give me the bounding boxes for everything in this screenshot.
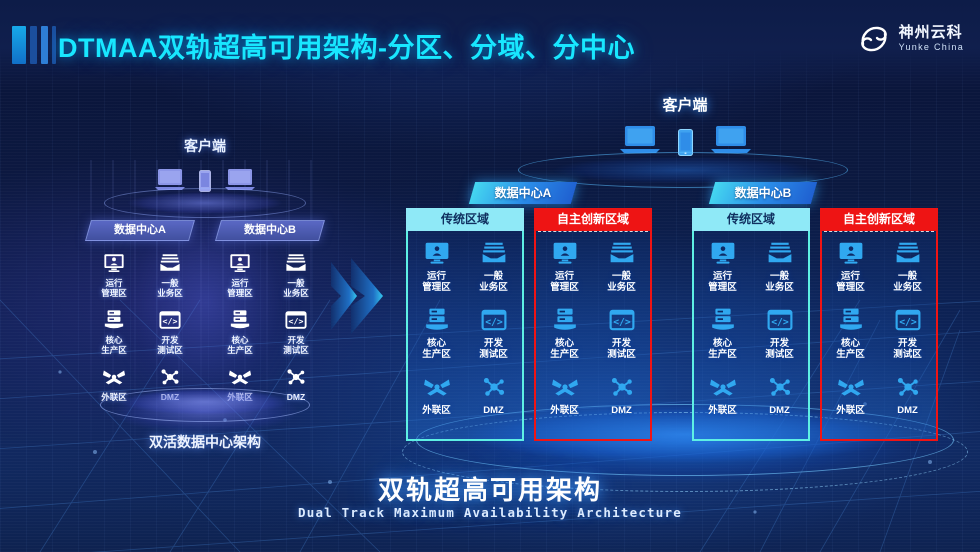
zone-cell: 核心 生产区 (408, 305, 465, 372)
zone-column-body: 运行 管理区 一般 业务区 核心 生产区 </> 开发 测试区 外联区 (406, 231, 524, 441)
zone-cell: </> 开发 测试区 (751, 305, 808, 372)
zone-column-innovation-a: 自主创新区域 运行 管理区 一般 业务区 核心 生产区 </> 开发 测试区 (534, 208, 652, 434)
dtmaa-architecture-group: 客户端 数据中心A 数据中心B (400, 86, 970, 506)
svg-text:</>: </> (289, 316, 304, 326)
code-window-icon: </> (481, 305, 507, 335)
zone-label: 核心 生产区 (708, 338, 737, 360)
zone-label: DMZ (769, 405, 790, 416)
zone-cell: 外联区 (694, 372, 751, 439)
code-window-icon: </> (159, 307, 181, 333)
molecule-nodes-icon (767, 372, 793, 402)
zone-column-traditional-a: 传统区域 运行 管理区 一般 业务区 核心 生产区 </> 开发 测试区 (406, 208, 524, 434)
inbox-tray-icon (481, 238, 507, 268)
zone-cell: </> 开发 测试区 (593, 305, 650, 372)
inbox-tray-icon (285, 250, 307, 276)
molecule-nodes-icon (481, 372, 507, 402)
zone-cell: 一般 业务区 (465, 238, 522, 305)
left-top-platform (104, 188, 306, 218)
monitor-person-icon (103, 250, 125, 276)
zone-label: 运行 管理区 (836, 271, 865, 293)
zone-cell: </> 开发 测试区 (268, 307, 324, 364)
zone-column-innovation-b: 自主创新区域 运行 管理区 一般 业务区 核心 生产区 </> 开发 测试区 (820, 208, 938, 434)
zone-label: 一般 业务区 (765, 271, 794, 293)
zone-cell: 外联区 (822, 372, 879, 439)
zone-label: 开发 测试区 (283, 336, 309, 355)
zone-label: 一般 业务区 (479, 271, 508, 293)
zone-label: 运行 管理区 (101, 279, 127, 298)
server-stack-icon (103, 307, 125, 333)
zone-cell: 一般 业务区 (268, 250, 324, 307)
zone-label: 核心 生产区 (836, 338, 865, 360)
zone-label: 外联区 (836, 405, 865, 416)
zone-cell: DMZ (751, 372, 808, 439)
network-arrows-icon (551, 372, 579, 402)
network-arrows-icon (709, 372, 737, 402)
zone-column-body: 运行 管理区 一般 业务区 核心 生产区 </> 开发 测试区 外联区 (692, 231, 810, 441)
laptop-icon (618, 124, 662, 156)
molecule-nodes-icon (895, 372, 921, 402)
zone-cell: 核心 生产区 (86, 307, 142, 364)
zone-cell: DMZ (465, 372, 522, 439)
slide-header: DTMAA双轨超高可用架构-分区、分域、分中心 神州云科 Yunke China (0, 0, 980, 88)
left-datacenter-badge-a-label: 数据中心A (89, 221, 191, 240)
svg-text:</>: </> (771, 317, 789, 328)
server-stack-icon (424, 305, 450, 335)
zone-label: 开发 测试区 (479, 338, 508, 360)
zone-label: DMZ (611, 405, 632, 416)
transition-arrow (327, 248, 389, 344)
brand-logo: 神州云科 Yunke China (857, 22, 964, 56)
footer-title-cn: 双轨超高可用架构 (0, 470, 980, 507)
zone-label: 一般 业务区 (607, 271, 636, 293)
zone-label: 核心 生产区 (101, 336, 127, 355)
monitor-person-icon (229, 250, 251, 276)
right-datacenter-badge-a-label: 数据中心A (472, 182, 574, 204)
zone-column-body: 运行 管理区 一般 业务区 核心 生产区 </> 开发 测试区 外联区 (820, 231, 938, 441)
zone-label: 核心 生产区 (550, 338, 579, 360)
zone-label: 一般 业务区 (283, 279, 309, 298)
left-datacenter-badge-a: 数据中心A (85, 220, 195, 241)
left-caption: 双活数据中心架构 (80, 432, 330, 452)
zone-cell: 核心 生产区 (536, 305, 593, 372)
zone-label: 运行 管理区 (227, 279, 253, 298)
server-stack-icon (229, 307, 251, 333)
zone-label: 运行 管理区 (550, 271, 579, 293)
code-window-icon: </> (767, 305, 793, 335)
zone-cell: 运行 管理区 (408, 238, 465, 305)
right-client-label: 客户端 (400, 94, 970, 115)
inbox-tray-icon (609, 238, 635, 268)
zone-cell: 一般 业务区 (879, 238, 936, 305)
zone-label: 运行 管理区 (422, 271, 451, 293)
right-datacenter-badge-a: 数据中心A (469, 182, 577, 204)
svg-text:</>: </> (899, 317, 917, 328)
server-stack-icon (838, 305, 864, 335)
molecule-nodes-icon (285, 364, 307, 390)
zone-cell: DMZ (593, 372, 650, 439)
slide-canvas: DTMAA双轨超高可用架构-分区、分域、分中心 神州云科 Yunke China… (0, 0, 980, 552)
swirl-logo-icon (857, 22, 891, 56)
footer-title-en: Dual Track Maximum Availability Architec… (0, 505, 980, 520)
zone-column-traditional-b: 传统区域 运行 管理区 一般 业务区 核心 生产区 </> 开发 测试区 (692, 208, 810, 434)
zone-cell: 一般 业务区 (593, 238, 650, 305)
zone-cell: 运行 管理区 (536, 238, 593, 305)
zone-cell: 外联区 (536, 372, 593, 439)
network-arrows-icon (102, 364, 126, 390)
right-datacenter-badge-b: 数据中心B (709, 182, 817, 204)
zone-column-header: 自主创新区域 (534, 208, 652, 231)
monitor-person-icon (424, 238, 450, 268)
zone-column-header: 传统区域 (692, 208, 810, 231)
zone-label: 开发 测试区 (607, 338, 636, 360)
zone-cell: 运行 管理区 (822, 238, 879, 305)
page-title: DTMAA双轨超高可用架构-分区、分域、分中心 (58, 26, 635, 65)
bars-accent-icon (12, 26, 56, 64)
zone-label: DMZ (897, 405, 918, 416)
zone-label: 开发 测试区 (157, 336, 183, 355)
zone-cell: 运行 管理区 (694, 238, 751, 305)
zone-label: 外联区 (708, 405, 737, 416)
zone-cell: 一般 业务区 (751, 238, 808, 305)
zone-label: 运行 管理区 (708, 271, 737, 293)
inbox-tray-icon (895, 238, 921, 268)
monitor-person-icon (838, 238, 864, 268)
zone-label: 一般 业务区 (157, 279, 183, 298)
zone-label: 核心 生产区 (227, 336, 253, 355)
zone-cell: 外联区 (408, 372, 465, 439)
inbox-tray-icon (159, 250, 181, 276)
left-client-label: 客户端 (80, 136, 330, 156)
left-datacenter-badges: 数据中心A 数据中心B (80, 220, 330, 241)
brand-name-en: Yunke China (899, 43, 964, 52)
server-stack-icon (552, 305, 578, 335)
svg-text:</>: </> (613, 317, 631, 328)
zone-label: 核心 生产区 (422, 338, 451, 360)
zone-column-header: 自主创新区域 (820, 208, 938, 231)
code-window-icon: </> (285, 307, 307, 333)
right-datacenter-badge-b-label: 数据中心B (712, 182, 814, 204)
zone-column-body: 运行 管理区 一般 业务区 核心 生产区 </> 开发 测试区 外联区 (534, 231, 652, 441)
zone-cell: 核心 生产区 (694, 305, 751, 372)
double-chevron-right-icon (327, 248, 389, 344)
zone-label: 开发 测试区 (765, 338, 794, 360)
svg-text:</>: </> (163, 316, 178, 326)
svg-text:</>: </> (485, 317, 503, 328)
zone-cell: </> 开发 测试区 (879, 305, 936, 372)
network-arrows-icon (837, 372, 865, 402)
zone-cell: 运行 管理区 (86, 250, 142, 307)
network-arrows-icon (423, 372, 451, 402)
legacy-architecture-group: 客户端 数据中心A 数据中心B (80, 92, 330, 462)
left-client-devices (80, 156, 330, 192)
zone-cell: 运行 管理区 (212, 250, 268, 307)
inbox-tray-icon (767, 238, 793, 268)
zone-label: 开发 测试区 (893, 338, 922, 360)
left-datacenter-badge-b: 数据中心B (215, 220, 325, 241)
code-window-icon: </> (895, 305, 921, 335)
code-window-icon: </> (609, 305, 635, 335)
server-stack-icon (710, 305, 736, 335)
zone-label: DMZ (483, 405, 504, 416)
monitor-person-icon (710, 238, 736, 268)
zone-label: 一般 业务区 (893, 271, 922, 293)
brand-name-cn: 神州云科 (899, 25, 964, 41)
left-datacenter-badge-b-label: 数据中心B (219, 221, 321, 240)
zone-cell: </> 开发 测试区 (142, 307, 198, 364)
monitor-person-icon (552, 238, 578, 268)
zone-label: 外联区 (550, 405, 579, 416)
zone-cell: 核心 生产区 (212, 307, 268, 364)
zone-column-header: 传统区域 (406, 208, 524, 231)
zone-cell: </> 开发 测试区 (465, 305, 522, 372)
zone-label: 外联区 (422, 405, 451, 416)
molecule-nodes-icon (609, 372, 635, 402)
zone-cell: 核心 生产区 (822, 305, 879, 372)
laptop-icon (709, 124, 753, 156)
right-client-devices (400, 116, 970, 156)
left-bottom-platform (100, 388, 310, 422)
zone-cell: 一般 业务区 (142, 250, 198, 307)
zone-cell: DMZ (879, 372, 936, 439)
right-zone-columns: 传统区域 运行 管理区 一般 业务区 核心 生产区 </> 开发 测试区 (400, 208, 970, 434)
